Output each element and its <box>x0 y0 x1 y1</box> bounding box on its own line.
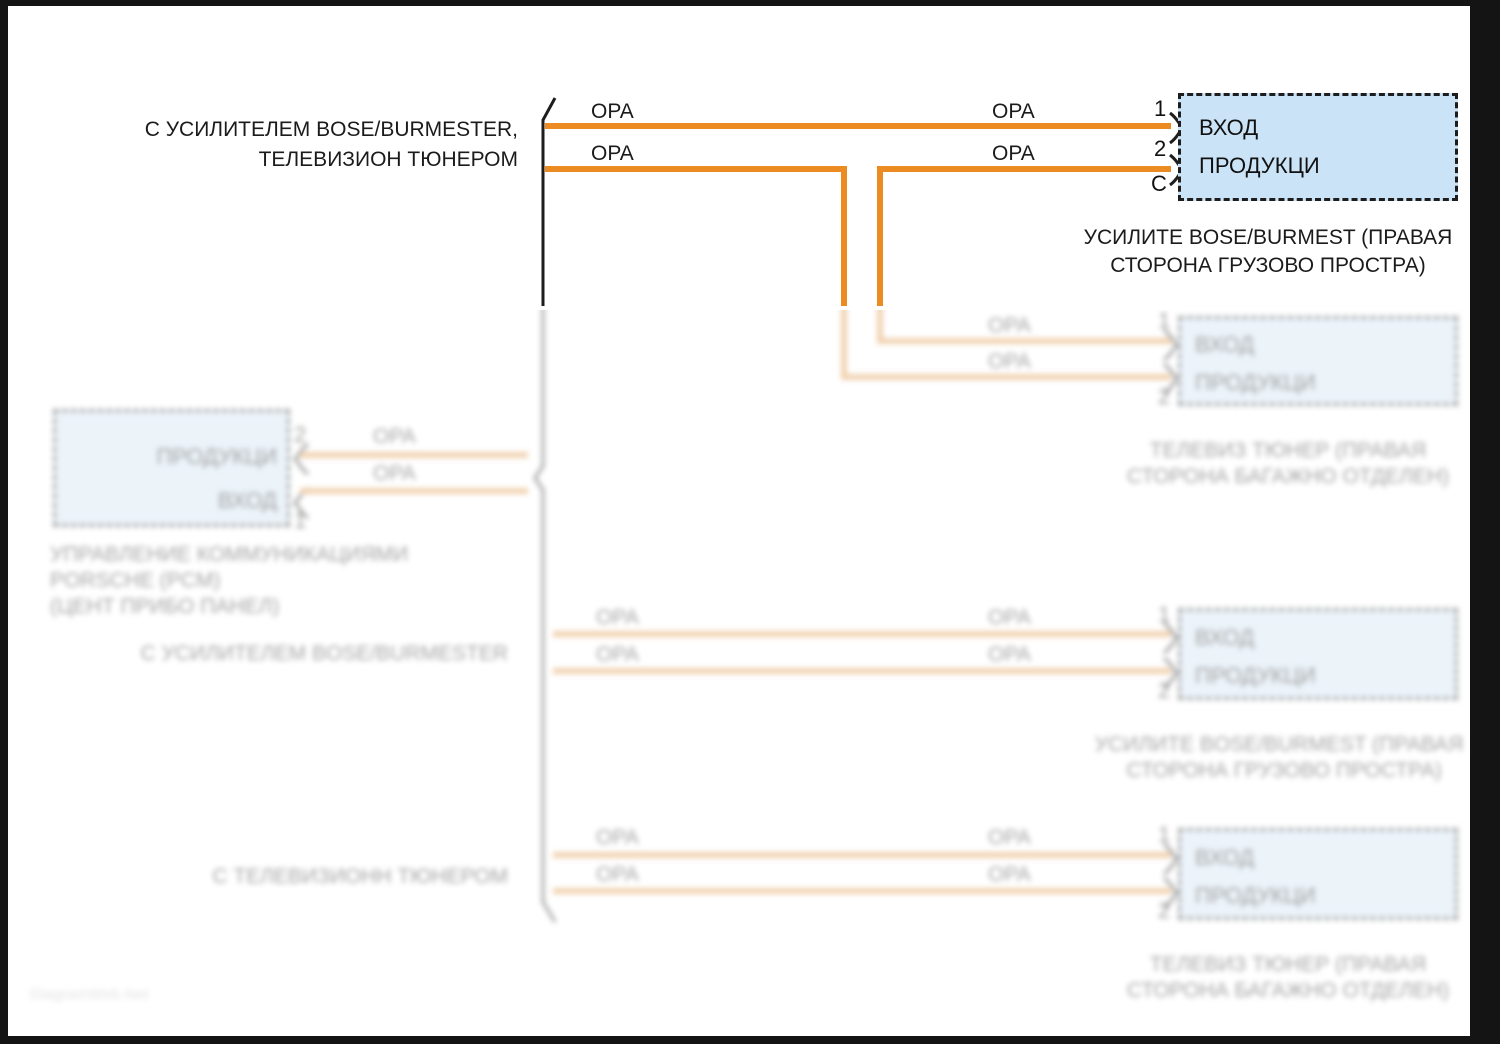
groupB-wire-2 <box>553 668 1171 674</box>
groupC-caption-line-1: ТЕЛЕВИЗ ТЮНЕР (ПРАВАЯ <box>1108 952 1468 978</box>
focus-wire-3-right <box>877 166 1171 172</box>
focus-wire-label-left-2: OPA <box>591 142 634 166</box>
diagram-page: ПРОДУКЦИ ВХОД 2 1 OPA OPA УПРАВЛЕНИЕ КОМ… <box>0 0 1500 1044</box>
focus-wire-1 <box>545 123 1171 129</box>
groupB-wire-label-left-2: OPA <box>596 643 639 667</box>
groupB-wire-label-right-2: OPA <box>988 643 1031 667</box>
focus-pin-text-vhod: ВХОД <box>1199 116 1258 140</box>
groupB-pin-text-vhod: ВХОД <box>1195 626 1254 650</box>
pcm-wire-label-2: OPA <box>373 462 416 486</box>
groupC-wire-1 <box>553 852 1171 858</box>
focus-wire-label-left-1: OPA <box>591 100 634 124</box>
pcm-pin-text-produkci: ПРОДУКЦИ <box>156 445 277 469</box>
focus-left-group-bracket <box>533 96 559 326</box>
groupC-connector-box[interactable]: ВХОД ПРОДУКЦИ <box>1178 828 1458 920</box>
groupB-pin-number-2: 2 <box>1158 680 1170 702</box>
pcm-wire-label-1: OPA <box>373 425 416 449</box>
focus-connector-box[interactable]: ВХОД ПРОДУКЦИ <box>1178 93 1458 201</box>
focus-pin-number-1: 1 <box>1154 98 1166 120</box>
pcm-pin-number-2: 2 <box>294 424 306 446</box>
groupA-brace-pin1 <box>1160 328 1180 362</box>
focus-left-caption-line-2: ТЕЛЕВИЗИОН ТЮНЕРОМ <box>118 147 518 173</box>
groupC-wire-label-right-2: OPA <box>988 863 1031 887</box>
focus-wire-label-right-2: OPA <box>992 142 1035 166</box>
pcm-caption-line-3: (ЦЕНТ ПРИБО ПАНЕЛ) <box>50 594 279 620</box>
focus-pin-number-2: 2 <box>1154 138 1166 160</box>
groupC-wire-2 <box>553 888 1171 894</box>
groupB-pin-text-produkci: ПРОДУКЦИ <box>1195 664 1316 688</box>
groupB-connector-box[interactable]: ВХОД ПРОДУКЦИ <box>1178 608 1458 700</box>
pcm-connector-box[interactable]: ПРОДУКЦИ ВХОД <box>53 409 290 527</box>
groupC-wire-label-right-1: OPA <box>988 826 1031 850</box>
groupB-pin-number-1: 1 <box>1158 604 1170 626</box>
groupC-pin-number-2: 2 <box>1158 900 1170 922</box>
groupA-connector-box[interactable]: ВХОД ПРОДУКЦИ <box>1178 316 1458 406</box>
focus-pin-text-produkci: ПРОДУКЦИ <box>1199 154 1320 178</box>
groupB-wire-1 <box>553 631 1171 637</box>
pcm-wire-2 <box>300 488 528 494</box>
groupB-caption-line-2: СТОРОНА ГРУЗОВО ПРОСТРА) <box>1098 758 1470 784</box>
groupC-wire-label-left-1: OPA <box>596 826 639 850</box>
groupA-caption-line-2: СТОРОНА БАГАЖНО ОТДЕЛЕН) <box>1098 464 1470 490</box>
groupB-wire-label-left-1: OPA <box>596 606 639 630</box>
diagram-sheet: ПРОДУКЦИ ВХОД 2 1 OPA OPA УПРАВЛЕНИЕ КОМ… <box>8 6 1470 1036</box>
groupA-pin-number-2: 2 <box>1158 386 1170 408</box>
groupA-pin-text-vhod: ВХОД <box>1195 333 1254 357</box>
focus-wire-3-drop <box>877 166 883 326</box>
groupA-pin-number-1: 1 <box>1158 310 1170 332</box>
pcm-brace-pin2 <box>292 442 312 476</box>
focus-caption-line-1: УСИЛИТЕ BOSE/BURMEST (ПРАВАЯ <box>1068 225 1468 251</box>
focus-pin-number-c: C <box>1151 173 1167 195</box>
groupC-brace-pin1 <box>1160 842 1180 876</box>
focus-caption-line-2: СТОРОНА ГРУЗОВО ПРОСТРА) <box>1068 253 1468 279</box>
groupC-pin-text-vhod: ВХОД <box>1195 846 1254 870</box>
focus-left-caption-line-1: С УСИЛИТЕЛЕМ BOSE/BURMESTER, <box>118 117 518 143</box>
groupC-pin-text-produkci: ПРОДУКЦИ <box>1195 884 1316 908</box>
pcm-caption-line-1: УПРАВЛЕНИЕ КОММУНИКАЦИЯМИ <box>50 542 408 568</box>
groupC-pin-number-1: 1 <box>1158 824 1170 846</box>
groupB-wire-label-right-1: OPA <box>988 606 1031 630</box>
groupA-wire-label-right-1: OPA <box>988 314 1031 338</box>
groupA-wire-label-right-2: OPA <box>988 350 1031 374</box>
pcm-pin-number-1: 1 <box>294 510 306 532</box>
groupC-left-caption: С ТЕЛЕВИЗИОНН ТЮНЕРОМ <box>108 864 508 890</box>
groupB-caption-line-1: УСИЛИТЕ BOSE/BURMEST (ПРАВАЯ <box>1088 732 1470 758</box>
pcm-caption-line-2: PORSCHE (PCM) <box>50 568 220 594</box>
groupA-caption-line-1: ТЕЛЕВИЗ ТЮНЕР (ПРАВАЯ <box>1108 438 1468 464</box>
focus-wire-2-drop <box>841 166 847 326</box>
groupC-wire-label-left-2: OPA <box>596 863 639 887</box>
groupC-caption-line-2: СТОРОНА БАГАЖНО ОТДЕЛЕН) <box>1098 978 1470 1004</box>
groupA-wire-lower-1 <box>877 338 1171 344</box>
focus-wire-2-left <box>545 166 847 172</box>
frame-border-bottom <box>0 1036 1500 1044</box>
pcm-pin-text-vhod: ВХОД <box>218 489 277 513</box>
pcm-wire-1 <box>300 452 528 458</box>
frame-border-right <box>1470 0 1500 1044</box>
watermark: DiagramWeb.Net <box>30 986 149 1003</box>
groupB-left-caption: С УСИЛИТЕЛЕМ BOSE/BURMESTER <box>108 641 508 667</box>
focus-wire-label-right-1: OPA <box>992 100 1035 124</box>
frame-border-left <box>0 0 8 1044</box>
groupA-wire-lower-2 <box>841 374 1171 380</box>
groupA-pin-text-produkci: ПРОДУКЦИ <box>1195 371 1316 395</box>
